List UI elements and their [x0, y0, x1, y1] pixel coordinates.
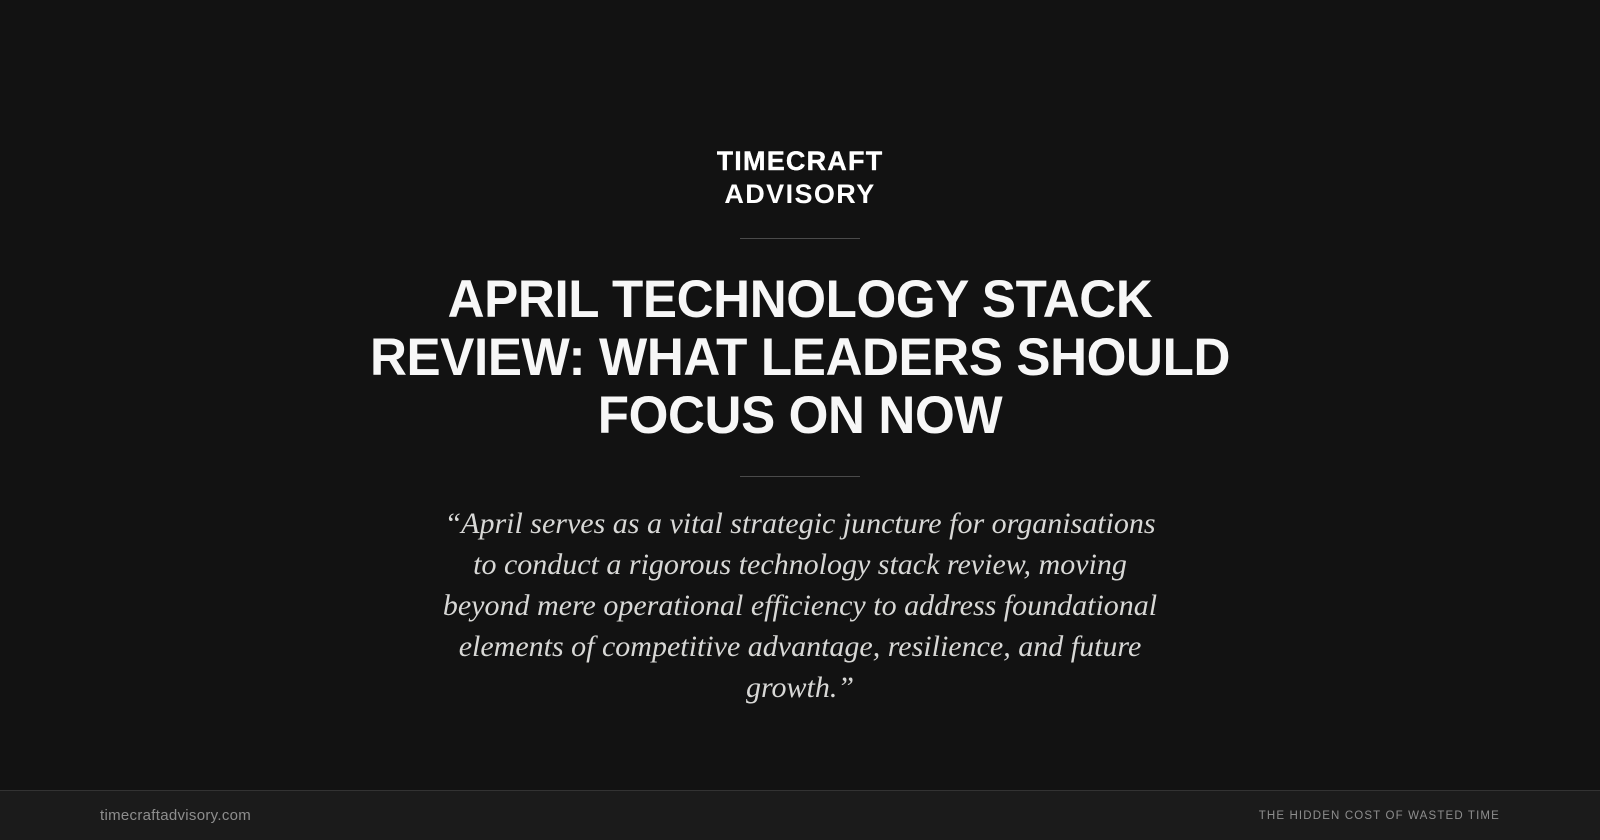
pull-quote: “April serves as a vital strategic junct…	[440, 503, 1160, 708]
footer-website-url: timecraftadvisory.com	[100, 807, 251, 824]
brand-name-secondary: ADVISORY	[724, 181, 875, 208]
footer-tagline: THE HIDDEN COST OF WASTED TIME	[1259, 810, 1500, 822]
brand-name-primary: TIMECRAFT	[717, 148, 884, 175]
divider-above-headline	[740, 238, 860, 239]
title-slide: TIMECRAFT ADVISORY APRIL TECHNOLOGY STAC…	[0, 0, 1600, 840]
brand-lockup: TIMECRAFT ADVISORY	[717, 148, 884, 208]
page-title: APRIL TECHNOLOGY STACK REVIEW: WHAT LEAD…	[346, 271, 1253, 445]
slide-content: TIMECRAFT ADVISORY APRIL TECHNOLOGY STAC…	[0, 0, 1600, 790]
divider-below-headline	[740, 476, 860, 477]
slide-footer: timecraftadvisory.com THE HIDDEN COST OF…	[0, 790, 1600, 840]
